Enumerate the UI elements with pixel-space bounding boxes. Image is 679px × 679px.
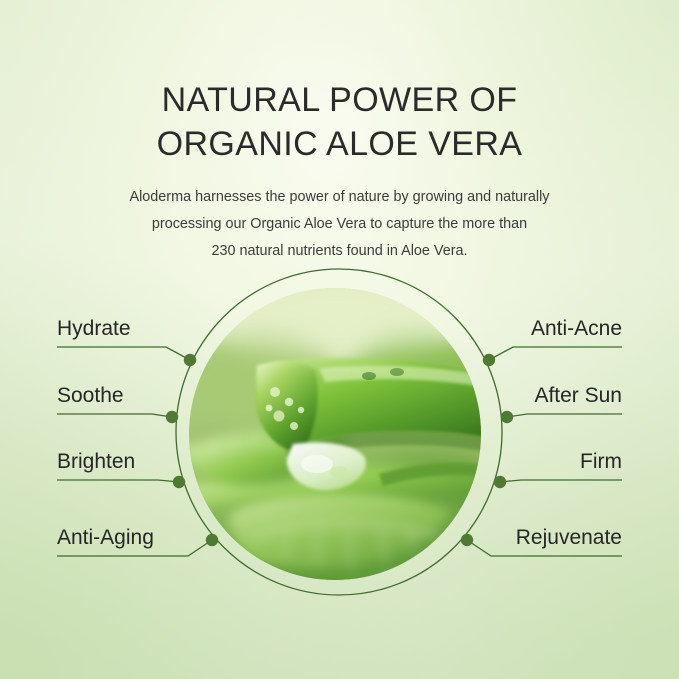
connector-firm (500, 480, 622, 482)
node-dot-hydrate (184, 354, 196, 366)
aloe-vera-infographic: NATURAL POWER OF ORGANIC ALOE VERA Alode… (0, 0, 679, 679)
node-dot-anti-aging (206, 534, 218, 546)
connector-soothe (57, 414, 172, 417)
cut-aloe-leaf (255, 358, 481, 460)
headline-line-2: ORGANIC ALOE VERA (0, 122, 679, 166)
node-dot-rejuvenate (461, 534, 473, 546)
connector-after-sun (507, 414, 622, 417)
benefit-label-soothe: Soothe (57, 384, 124, 408)
node-dot-firm (494, 476, 506, 488)
node-dot-after-sun (501, 411, 513, 423)
connector-brighten (57, 480, 179, 482)
headline-line-1: NATURAL POWER OF (0, 78, 679, 122)
node-dot-anti-acne (483, 354, 495, 366)
page-title: NATURAL POWER OF ORGANIC ALOE VERA (0, 78, 679, 166)
connector-anti-acne (489, 347, 622, 360)
benefit-label-hydrate: Hydrate (57, 317, 131, 341)
benefit-label-anti-aging: Anti-Aging (57, 526, 154, 550)
description-paragraph: Aloderma harnesses the power of nature b… (89, 184, 590, 265)
description-line-3: 230 natural nutrients found in Aloe Vera… (89, 238, 590, 265)
benefit-label-rejuvenate: Rejuvenate (516, 526, 622, 550)
aloe-leaf-illustration (189, 288, 481, 580)
node-dot-soothe (166, 411, 178, 423)
benefit-label-anti-acne: Anti-Acne (531, 317, 622, 341)
benefit-label-firm: Firm (580, 450, 622, 474)
aloe-vera-photo (189, 288, 481, 580)
description-line-1: Aloderma harnesses the power of nature b… (89, 184, 590, 211)
node-dot-brighten (173, 476, 185, 488)
benefit-label-brighten: Brighten (57, 450, 135, 474)
connector-hydrate (57, 347, 190, 360)
description-line-2: processing our Organic Aloe Vera to capt… (89, 211, 590, 238)
benefit-label-after-sun: After Sun (534, 384, 622, 408)
